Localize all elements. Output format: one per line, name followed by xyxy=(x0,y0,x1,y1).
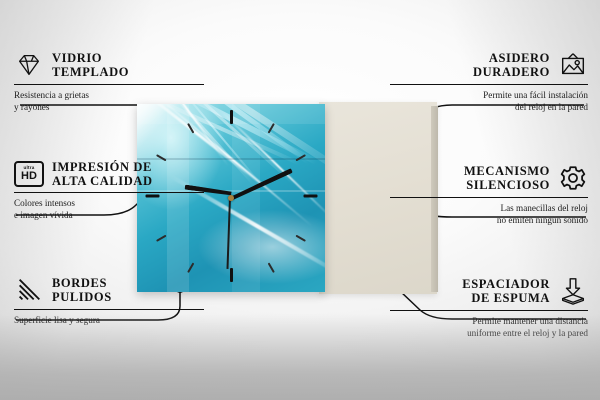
feature-silent-mechanism: MECANISMO SILENCIOSO Las manecillas del … xyxy=(390,163,588,227)
feature-desc-line2: y rayones xyxy=(14,102,204,114)
feature-title-line1: IMPRESIÓN DE xyxy=(52,160,153,174)
feature-desc-line1: Permite mantener una distancia xyxy=(390,316,588,328)
feature-title-line1: ESPACIADOR xyxy=(462,277,550,291)
infographic-canvas: VIDRIO TEMPLADO Resistencia a grietas y … xyxy=(0,0,600,400)
feature-desc-line2: uniforme entre el reloj y la pared xyxy=(390,328,588,340)
ultra-hd-main-label: HD xyxy=(21,171,37,182)
feature-desc-line1: Las manecillas del reloj xyxy=(390,203,588,215)
diamond-icon xyxy=(14,50,44,80)
feature-desc-line1: Superficie lisa y segura xyxy=(14,315,204,327)
feature-title-line2: DE ESPUMA xyxy=(462,291,550,305)
feature-rule xyxy=(390,310,588,311)
clock-tick-3 xyxy=(303,195,317,198)
feature-desc-line2: e imagen vívida xyxy=(14,210,204,222)
feature-desc-line2: del reloj en la pared xyxy=(390,102,588,114)
feature-title-line2: TEMPLADO xyxy=(52,65,129,79)
feature-title-line2: DURADERO xyxy=(473,65,550,79)
feature-title-line1: MECANISMO xyxy=(464,164,550,178)
clock-tick-6 xyxy=(230,268,233,282)
arrow-down-layers-icon xyxy=(558,276,588,306)
clock-tick-12 xyxy=(230,110,233,124)
feature-desc-line1: Permite una fácil instalación xyxy=(390,90,588,102)
feature-rule xyxy=(14,84,204,85)
feature-rule xyxy=(14,192,204,193)
feature-title-line2: SILENCIOSO xyxy=(464,178,550,192)
gear-icon xyxy=(558,163,588,193)
feature-rule xyxy=(14,309,204,310)
clock-center-cap xyxy=(228,195,234,201)
feature-title-line2: ALTA CALIDAD xyxy=(52,174,153,188)
feature-desc-line2: no emiten ningún sonido xyxy=(390,215,588,227)
polished-edge-icon xyxy=(14,275,44,305)
feature-title-line2: PULIDOS xyxy=(52,290,112,304)
feature-title-line1: BORDES xyxy=(52,276,112,290)
feature-rule xyxy=(390,197,588,198)
feature-durable-hanger: ASIDERO DURADERO Permite una fácil insta… xyxy=(390,50,588,114)
feature-desc-line1: Colores intensos xyxy=(14,198,204,210)
feature-title-line1: VIDRIO xyxy=(52,51,129,65)
framed-picture-icon xyxy=(558,50,588,80)
feature-title-line1: ASIDERO xyxy=(473,51,550,65)
feature-hd-print: ultra HD IMPRESIÓN DE ALTA CALIDAD Color… xyxy=(14,160,204,222)
ultra-hd-icon: ultra HD xyxy=(14,161,44,187)
feature-desc-line1: Resistencia a grietas xyxy=(14,90,204,102)
feature-tempered-glass: VIDRIO TEMPLADO Resistencia a grietas y … xyxy=(14,50,204,114)
feature-foam-spacer: ESPACIADOR DE ESPUMA Permite mantener un… xyxy=(390,276,588,340)
feature-polished-edges: BORDES PULIDOS Superficie lisa y segura xyxy=(14,275,204,327)
feature-rule xyxy=(390,84,588,85)
